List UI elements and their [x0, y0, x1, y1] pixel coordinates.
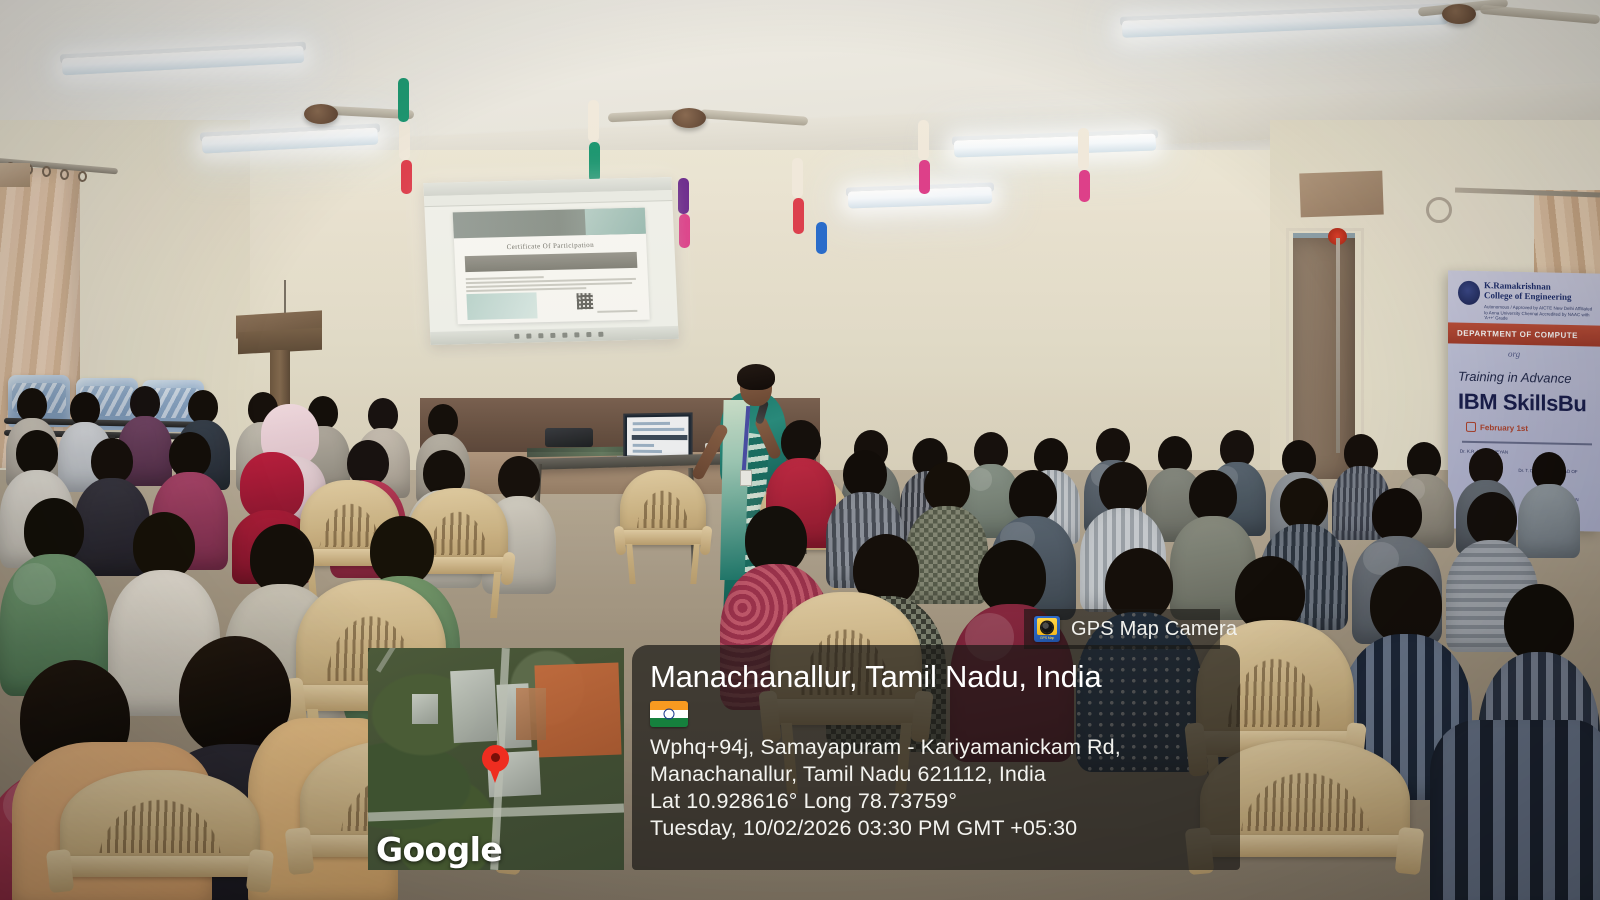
- banner-college-line-2: College of Engineering: [1484, 290, 1596, 302]
- head: [17, 388, 47, 422]
- head: [843, 450, 887, 498]
- taskbar-icon: [598, 332, 603, 337]
- ceiling-fan-hub: [1442, 4, 1476, 24]
- hanging-streamer: [816, 222, 827, 254]
- map-building: [450, 669, 498, 743]
- curtain-ring: [78, 171, 87, 182]
- ceiling-fan-hub: [304, 104, 338, 124]
- banner-department-band: DEPARTMENT OF COMPUTE: [1448, 322, 1600, 346]
- taskbar-icon: [538, 333, 543, 338]
- hanging-streamer: [793, 198, 804, 234]
- certificate-text-line: [466, 287, 586, 291]
- certificate-header-accent: [585, 208, 646, 235]
- calendar-icon: [1466, 422, 1476, 432]
- banner-program-title: IBM SkillsBu: [1458, 389, 1586, 418]
- head: [368, 398, 398, 432]
- plastic-chair[interactable]: [620, 470, 706, 582]
- audience-member-foreground: [1430, 720, 1600, 900]
- hanging-streamer: [918, 120, 929, 160]
- door-hanging-strip: [1336, 238, 1340, 453]
- gps-brand-label: GPS Map Camera: [1071, 618, 1237, 641]
- coordinates: Lat 10.928616° Long 78.73759°: [650, 788, 1240, 815]
- address-line-1: Wphq+94j, Samayapuram - Kariyamanickam R…: [650, 734, 1240, 761]
- india-flag-icon: [650, 701, 688, 727]
- head: [978, 540, 1046, 614]
- torso: [1430, 720, 1600, 900]
- banner-training-line: Training in Advance: [1458, 369, 1600, 387]
- hanging-streamer: [399, 122, 410, 160]
- head: [1009, 470, 1057, 522]
- certificate-graphic: [466, 292, 537, 320]
- country-flag-row: [650, 697, 1240, 731]
- head: [1372, 488, 1422, 542]
- gps-info-panel: Manachanallur, Tamil Nadu, India Wphq+94…: [632, 645, 1240, 870]
- gps-detail-lines: Wphq+94j, Samayapuram - Kariyamanickam R…: [650, 734, 1240, 842]
- head: [70, 392, 100, 426]
- college-logo-icon: [1458, 281, 1480, 305]
- location-name: Manachanallur, Tamil Nadu, India: [650, 659, 1240, 695]
- speaker-id-badge: [740, 470, 752, 486]
- hanging-streamer: [792, 158, 803, 198]
- certificate-document: Certificate Of Participation: [453, 208, 650, 325]
- banner-college-name: K.Ramakrishnan College of Engineering: [1484, 280, 1596, 302]
- curtain-ring: [42, 166, 51, 177]
- map-thumbnail[interactable]: Google: [368, 648, 624, 870]
- hanging-streamer: [401, 160, 412, 194]
- banner-college-subtitle: Autonomous / Approved by AICTE New Delhi…: [1484, 304, 1596, 323]
- wall-plaque: [1299, 171, 1383, 218]
- map-open-field: [534, 663, 621, 758]
- taskbar-icon: [526, 333, 531, 338]
- curtain-ring: [60, 169, 69, 180]
- head: [1280, 478, 1328, 530]
- certificate-name-bar: [465, 252, 638, 272]
- hanging-streamer: [398, 78, 409, 122]
- laptop-screen-content: [627, 417, 688, 457]
- google-watermark: Google: [376, 830, 502, 869]
- head: [188, 390, 218, 424]
- taskbar-icon: [562, 333, 567, 338]
- taskbar-icon: [586, 332, 591, 337]
- head: [1504, 584, 1574, 662]
- wall-meter-box: [0, 163, 30, 187]
- head: [130, 386, 160, 420]
- head: [1189, 470, 1237, 522]
- laptop-screen: [623, 412, 692, 458]
- map-location-pin: [482, 745, 509, 783]
- taskbar-icon: [574, 332, 579, 337]
- head: [924, 462, 970, 512]
- plastic-chair-foreground[interactable]: [60, 770, 260, 900]
- ceiling-fan-hub: [672, 108, 706, 128]
- projector-control-box: [545, 428, 593, 447]
- banner-divider: [1462, 441, 1592, 445]
- certificate-qr-code: [576, 293, 593, 309]
- hanging-streamer: [679, 214, 690, 248]
- head: [1099, 462, 1147, 514]
- taskbar-icon: [514, 334, 519, 339]
- hanging-streamer: [588, 100, 599, 142]
- certificate-signature-line: [597, 310, 637, 312]
- address-line-2: Manachanallur, Tamil Nadu 621112, India: [650, 761, 1240, 788]
- banner-organises: org: [1508, 349, 1520, 359]
- hanging-streamer: [1079, 170, 1090, 202]
- podium-microphone: [284, 280, 286, 316]
- head: [1467, 492, 1517, 546]
- banner-date-line: February 1st: [1480, 423, 1528, 433]
- hanging-streamer: [919, 160, 930, 194]
- wall-fixture-icon: [1426, 197, 1452, 223]
- certificate-title: Certificate Of Participation: [454, 240, 646, 253]
- gps-map-camera-brand: GPS Map GPS Map Camera: [1024, 609, 1220, 649]
- certificate-text-line: [466, 276, 544, 279]
- gps-map-camera-logo-icon: GPS Map: [1034, 616, 1060, 642]
- head: [1370, 566, 1442, 644]
- hanging-streamer: [589, 142, 600, 182]
- map-building: [412, 694, 438, 724]
- timestamp: Tuesday, 10/02/2026 03:30 PM GMT +05:30: [650, 815, 1240, 842]
- projection-screen: Certificate Of Participation: [423, 177, 678, 345]
- map-building: [516, 688, 546, 740]
- gps-logo-caption: GPS Map: [1037, 635, 1057, 641]
- taskbar-icon: [550, 333, 555, 338]
- head: [428, 404, 458, 438]
- speaker-hair: [737, 364, 775, 390]
- hanging-streamer: [678, 178, 689, 214]
- hanging-streamer: [1078, 128, 1089, 170]
- gps-map-camera-photo: Certificate Of Participation: [0, 0, 1600, 900]
